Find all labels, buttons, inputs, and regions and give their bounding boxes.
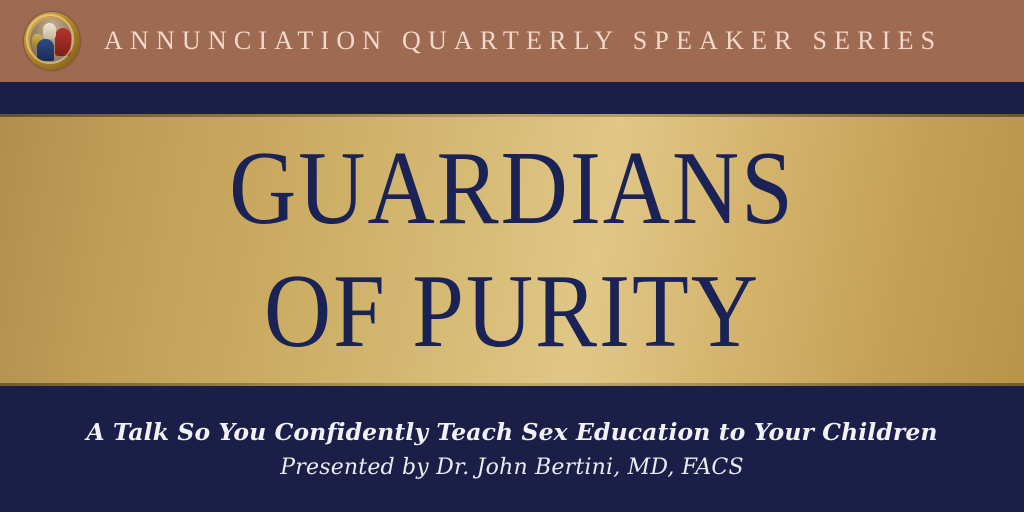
title-block: GUARDIANS OF PURITY [0,114,1024,386]
header-title: ANNUNCIATION QUARTERLY SPEAKER SERIES [104,0,942,82]
poster-subtitle: A Talk So You Confidently Teach Sex Educ… [86,418,937,446]
header-band: ANNUNCIATION QUARTERLY SPEAKER SERIES [0,0,1024,82]
footer-band: A Talk So You Confidently Teach Sex Educ… [0,386,1024,512]
poster-title-line-1: GUARDIANS [229,136,795,241]
navy-divider [0,82,1024,114]
annunciation-seal-icon [24,12,80,70]
poster-presenter: Presented by Dr. John Bertini, MD, FACS [280,455,743,480]
event-poster: ANNUNCIATION QUARTERLY SPEAKER SERIES GU… [0,0,1024,512]
poster-title-line-2: OF PURITY [264,259,760,364]
seal-ring [26,14,74,64]
